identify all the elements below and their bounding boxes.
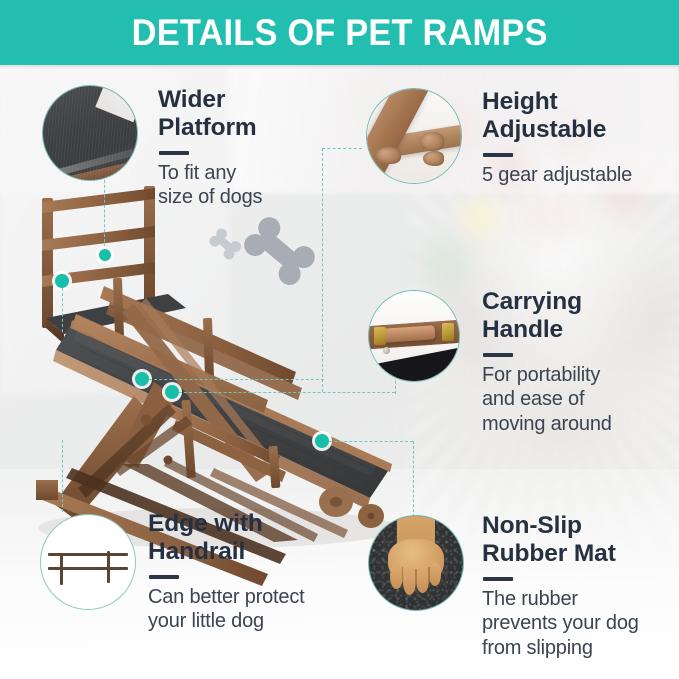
- product-image-pet-ramp: [18, 168, 418, 558]
- callout-edge-handrail: Edge with Handrail Can better protect yo…: [148, 510, 343, 634]
- handrail-line-drawing-icon: [41, 515, 135, 609]
- anchor-dot-carrying-handle: [165, 385, 179, 399]
- leader-line-edge-handrail-lower: [62, 440, 63, 512]
- callout-title-non-slip-mat: Non-Slip Rubber Mat: [482, 512, 678, 568]
- badge-height-adjustable: [366, 88, 462, 184]
- pet-ramp-infographic: DETAILS OF PET RAMPS: [0, 0, 679, 679]
- callout-divider: [483, 577, 513, 581]
- leader-line-non-slip-horizontal: [329, 441, 413, 442]
- callout-divider: [149, 575, 179, 579]
- badge-wider-platform: [42, 85, 138, 181]
- bokeh-light-6: [520, 196, 580, 240]
- bokeh-light-4: [462, 200, 498, 236]
- callout-carrying-handle: Carrying Handle For portability and ease…: [482, 288, 674, 436]
- callout-divider: [483, 153, 513, 157]
- leader-line-non-slip-vertical: [413, 441, 414, 517]
- callout-title-carrying-handle: Carrying Handle: [482, 288, 674, 344]
- leader-line-carrying-handle: [179, 392, 395, 393]
- bone-icon-large: [240, 226, 312, 286]
- wood-dowel-notch-photo-icon: [367, 89, 461, 183]
- badge-edge-handrail: [40, 514, 136, 610]
- callout-title-edge-handrail: Edge with Handrail: [148, 510, 343, 566]
- carry-handle-photo-icon: [369, 291, 459, 381]
- header-banner: DETAILS OF PET RAMPS: [0, 0, 679, 65]
- leader-line-wider-platform: [104, 175, 105, 247]
- header-shadow: [0, 65, 679, 69]
- callout-body-non-slip-mat: The rubber prevents your dog from slippi…: [482, 587, 678, 660]
- anchor-dot-edge-handrail: [55, 274, 69, 288]
- bone-icon-small: [208, 232, 242, 258]
- callout-divider: [159, 151, 189, 155]
- anchor-dot-wider-platform: [96, 246, 114, 264]
- callout-wider-platform: Wider Platform To fit any size of dogs: [158, 86, 333, 210]
- ramp-mat-photo-icon: [43, 86, 137, 180]
- callout-body-height-adjustable: 5 gear adjustable: [482, 163, 672, 187]
- callout-height-adjustable: Height Adjustable 5 gear adjustable: [482, 88, 672, 187]
- page-title: DETAILS OF PET RAMPS: [131, 12, 547, 54]
- callout-body-carrying-handle: For portability and ease of moving aroun…: [482, 363, 674, 436]
- badge-carrying-handle: [368, 290, 460, 382]
- callout-divider: [483, 353, 513, 357]
- callout-body-wider-platform: To fit any size of dogs: [158, 161, 333, 210]
- anchor-dot-non-slip-mat: [315, 434, 329, 448]
- anchor-dot-height-adjustable: [135, 372, 149, 386]
- callout-title-height-adjustable: Height Adjustable: [482, 88, 672, 144]
- callout-non-slip-mat: Non-Slip Rubber Mat The rubber prevents …: [482, 512, 678, 660]
- callout-body-edge-handrail: Can better protect your little dog: [148, 585, 343, 634]
- dog-paw-on-rubber-mat-photo-icon: [369, 516, 463, 610]
- bokeh-light-5: [420, 238, 470, 288]
- badge-non-slip-mat: [368, 515, 464, 611]
- leader-line-edge-handrail-upper: [62, 288, 63, 332]
- leader-line-height-adjustable-lower: [149, 379, 324, 380]
- callout-title-wider-platform: Wider Platform: [158, 86, 333, 142]
